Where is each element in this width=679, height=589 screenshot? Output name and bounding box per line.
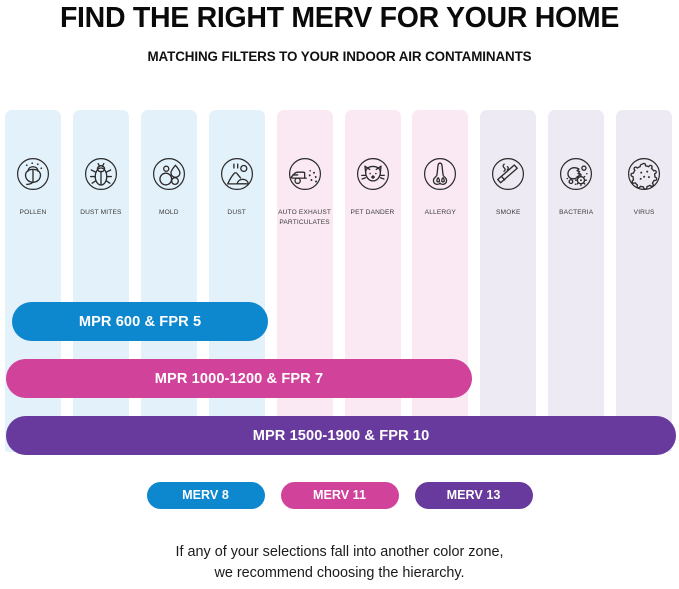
contaminant-column-auto-exhaust-particulates: AUTO EXHAUST PARTICULATES: [277, 110, 333, 452]
contaminant-column-virus: VIRUS: [616, 110, 672, 452]
page-subtitle: MATCHING FILTERS TO YOUR INDOOR AIR CONT…: [0, 49, 679, 64]
column-label: POLLEN: [1, 208, 65, 218]
contaminant-column-pollen: POLLEN: [5, 110, 61, 452]
column-label: MOLD: [137, 208, 201, 218]
column-label: ALLERGY: [408, 208, 472, 218]
rating-bar-3: MPR 1500-1900 & FPR 10: [6, 416, 676, 455]
icon-container: [73, 148, 129, 200]
contaminant-column-allergy: ALLERGY: [412, 110, 468, 452]
column-label: BACTERIA: [544, 208, 608, 218]
rating-bar-1: MPR 600 & FPR 5: [12, 302, 268, 341]
merv-badge-8[interactable]: MERV 8: [147, 482, 265, 509]
contaminant-column-mold: MOLD: [141, 110, 197, 452]
column-label: AUTO EXHAUST PARTICULATES: [273, 208, 337, 227]
column-label: DUST MITES: [69, 208, 133, 218]
nose-icon: [417, 151, 463, 197]
contaminant-column-dust: DUST: [209, 110, 265, 452]
contaminant-column-dust-mites: DUST MITES: [73, 110, 129, 452]
contaminant-columns: POLLENDUST MITESMOLDDUSTAUTO EXHAUST PAR…: [0, 110, 679, 452]
icon-container: [480, 148, 536, 200]
dust-icon: [214, 151, 260, 197]
bacteria-icon: [553, 151, 599, 197]
column-label: VIRUS: [612, 208, 676, 218]
dust-mite-icon: [78, 151, 124, 197]
cigarette-icon: [485, 151, 531, 197]
car-exhaust-icon: [282, 151, 328, 197]
merv-badge-11[interactable]: MERV 11: [281, 482, 399, 509]
icon-container: [5, 148, 61, 200]
contaminant-column-bacteria: BACTERIA: [548, 110, 604, 452]
icon-container: [345, 148, 401, 200]
icon-container: [616, 148, 672, 200]
virus-icon: [621, 151, 667, 197]
icon-container: [141, 148, 197, 200]
contaminant-column-pet-dander: PET DANDER: [345, 110, 401, 452]
column-label: DUST: [205, 208, 269, 218]
icon-container: [277, 148, 333, 200]
icon-container: [548, 148, 604, 200]
column-label: PET DANDER: [341, 208, 405, 218]
page-title: FIND THE RIGHT MERV FOR YOUR HOME: [0, 2, 679, 35]
footer-note: If any of your selections fall into anot…: [0, 542, 679, 583]
merv-legend: MERV 8MERV 11MERV 13: [0, 481, 679, 509]
mold-spores-icon: [146, 151, 192, 197]
cat-icon: [350, 151, 396, 197]
contaminant-column-smoke: SMOKE: [480, 110, 536, 452]
column-label: SMOKE: [476, 208, 540, 218]
merv-badge-13[interactable]: MERV 13: [415, 482, 533, 509]
flower-icon: [10, 151, 56, 197]
rating-bar-2: MPR 1000-1200 & FPR 7: [6, 359, 472, 398]
icon-container: [209, 148, 265, 200]
icon-container: [412, 148, 468, 200]
